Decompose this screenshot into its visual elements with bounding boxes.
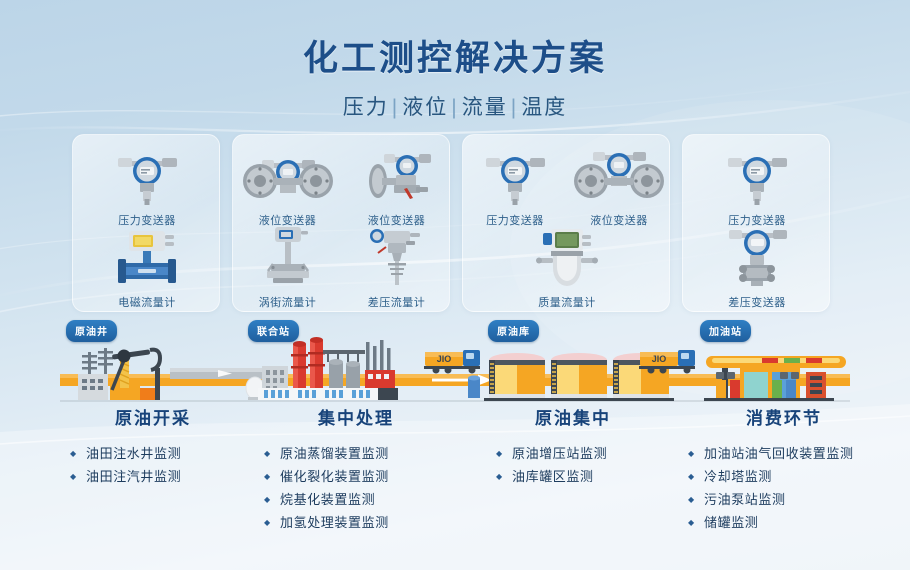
subtitle-part-pressure: 压力 xyxy=(343,96,389,119)
flow-illustration: JIO xyxy=(0,322,910,412)
stage-list-item: 污油泵站监测 xyxy=(688,488,906,511)
page-title: 化工测控解决方案 xyxy=(0,38,910,79)
stage-title: 消费环节 xyxy=(662,404,906,429)
stage-block-3: 原油集中 原油增压站监测 油库罐区监测 xyxy=(480,404,680,488)
product-item[interactable]: 压力变送器 xyxy=(463,145,567,228)
pressure-transmitter-icon xyxy=(683,145,831,207)
differential-pressure-transmitter-icon xyxy=(683,227,831,289)
electromagnetic-flowmeter-icon xyxy=(73,227,221,289)
product-card-3[interactable]: 压力变送器 xyxy=(462,134,670,312)
flow-badge-filling-station[interactable]: 加油站 xyxy=(700,320,751,342)
subtitle-part-flow: 流量 xyxy=(462,96,508,119)
product-item[interactable]: 压力变送器 xyxy=(73,145,221,228)
stage-list-item: 催化裂化装置监测 xyxy=(264,465,468,488)
stage-block-1: 原油开采 油田注水井监测 油田注汽井监测 xyxy=(60,404,260,488)
product-name: 差压变送器 xyxy=(683,294,831,310)
product-item[interactable]: 差压流量计 xyxy=(342,227,451,310)
stage-item-list: 原油增压站监测 油库罐区监测 xyxy=(496,442,680,488)
stage-block-4: 消费环节 加油站油气回收装置监测 冷却塔监测 污油泵站监测 储罐监测 xyxy=(676,404,906,535)
stage-item-list: 油田注水井监测 油田注汽井监测 xyxy=(70,442,260,488)
flow-badge-oil-well[interactable]: 原油井 xyxy=(66,320,117,342)
level-transmitter-single-flange-icon xyxy=(342,145,451,207)
vortex-flowmeter-icon xyxy=(233,227,342,289)
level-transmitter-flange-icon xyxy=(233,145,342,207)
product-item[interactable]: 液位变送器 xyxy=(567,145,671,228)
page-subtitle: 压力|液位|流量|温度 xyxy=(0,91,910,121)
product-name: 压力变送器 xyxy=(463,212,567,228)
process-flow-diagram: 原油井 联合站 原油库 加油站 xyxy=(0,322,910,412)
subtitle-separator: | xyxy=(511,96,518,119)
product-card-1[interactable]: 压力变送器 电磁流量计 xyxy=(72,134,220,312)
product-name: 液位变送器 xyxy=(233,212,342,228)
product-item[interactable]: 质量流量计 xyxy=(515,227,619,310)
page-header: 化工测控解决方案 压力|液位|流量|温度 xyxy=(0,38,910,121)
product-name: 压力变送器 xyxy=(73,212,221,228)
stage-title: 原油开采 xyxy=(46,404,260,429)
stage-block-2: 集中处理 原油蒸馏装置监测 催化裂化装置监测 烷基化装置监测 加氢处理装置监测 xyxy=(258,404,468,535)
level-transmitter-flange-icon xyxy=(567,145,671,207)
stage-list-item: 加氢处理装置监测 xyxy=(264,511,468,534)
product-item[interactable]: 压力变送器 xyxy=(683,145,831,228)
product-name: 压力变送器 xyxy=(683,212,831,228)
product-name: 液位变送器 xyxy=(342,212,451,228)
subtitle-separator: | xyxy=(392,96,399,119)
stage-list-item: 油田注汽井监测 xyxy=(70,465,260,488)
product-name: 液位变送器 xyxy=(567,212,671,228)
stage-list-item: 原油蒸馏装置监测 xyxy=(264,442,468,465)
pressure-transmitter-icon xyxy=(73,145,221,207)
gas-station-illustration xyxy=(704,356,846,401)
refinery-illustration xyxy=(246,337,398,400)
stage-list-item: 冷却塔监测 xyxy=(688,465,906,488)
stage-list-item: 油田注水井监测 xyxy=(70,442,260,465)
subtitle-separator: | xyxy=(451,96,458,119)
truck-label-1: JIO xyxy=(437,354,452,364)
stage-title: 集中处理 xyxy=(244,404,468,429)
subtitle-part-temperature: 温度 xyxy=(521,96,567,119)
stage-list-item: 加油站油气回收装置监测 xyxy=(688,442,906,465)
stage-list-item: 烷基化装置监测 xyxy=(264,488,468,511)
product-name: 质量流量计 xyxy=(515,294,619,310)
product-card-2[interactable]: 液位变送器 液位变 xyxy=(232,134,450,312)
product-item[interactable]: 涡街流量计 xyxy=(233,227,342,310)
product-name: 涡街流量计 xyxy=(233,294,342,310)
product-name: 电磁流量计 xyxy=(73,294,221,310)
tanker-truck-illustration: JIO xyxy=(424,350,480,374)
stage-item-list: 加油站油气回收装置监测 冷却塔监测 污油泵站监测 储罐监测 xyxy=(688,442,906,535)
product-cards: 压力变送器 电磁流量计 xyxy=(0,134,910,314)
mass-flowmeter-icon xyxy=(515,227,619,289)
stage-title: 原油集中 xyxy=(466,404,680,429)
product-item[interactable]: 液位变送器 xyxy=(342,145,451,228)
product-item[interactable]: 电磁流量计 xyxy=(73,227,221,310)
stage-list-item: 原油增压站监测 xyxy=(496,442,680,465)
product-name: 差压流量计 xyxy=(342,294,451,310)
flow-badge-crude-depot[interactable]: 原油库 xyxy=(488,320,539,342)
flow-badge-gathering-station[interactable]: 联合站 xyxy=(248,320,299,342)
pressure-transmitter-icon xyxy=(463,145,567,207)
product-item[interactable]: 液位变送器 xyxy=(233,145,342,228)
stage-item-list: 原油蒸馏装置监测 催化裂化装置监测 烷基化装置监测 加氢处理装置监测 xyxy=(264,442,468,535)
truck-label-2: JIO xyxy=(652,354,667,364)
stage-list-item: 储罐监测 xyxy=(688,511,906,534)
subtitle-part-level: 液位 xyxy=(402,96,448,119)
stage-list-item: 油库罐区监测 xyxy=(496,465,680,488)
product-item[interactable]: 差压变送器 xyxy=(683,227,831,310)
product-card-4[interactable]: 压力变送器 xyxy=(682,134,830,312)
differential-pressure-flowmeter-icon xyxy=(342,227,451,289)
